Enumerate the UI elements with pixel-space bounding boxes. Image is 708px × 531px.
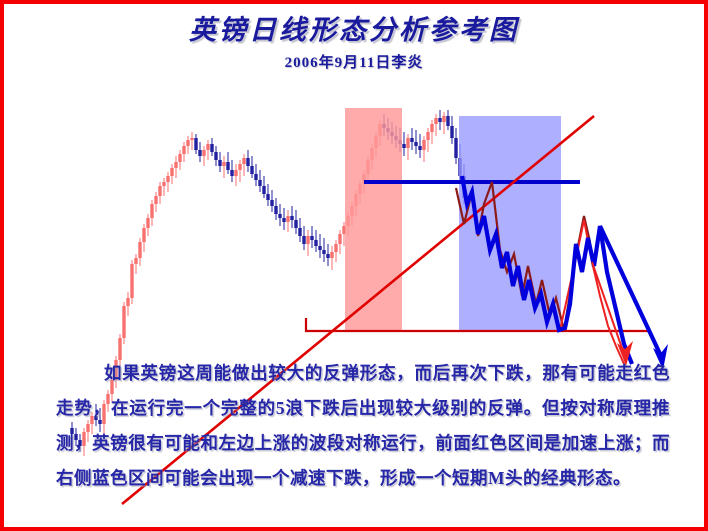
page-subtitle: 2006年9月11日李炎 — [4, 51, 704, 72]
projection-blue-tail — [600, 226, 661, 356]
commentary-text: 如果英镑这周能做出较大的反弹形态，而后再次下跌，那有可能走红色走势，在运行完一个… — [56, 356, 670, 496]
title-block: 英镑日线形态分析参考图 2006年9月11日李炎 — [4, 14, 704, 72]
support-line — [306, 318, 649, 331]
analysis-chart-image: 英镑日线形态分析参考图 2006年9月11日李炎 如果英镑这周能做出较大的反弹形… — [0, 0, 708, 531]
page-title: 英镑日线形态分析参考图 — [4, 14, 704, 46]
